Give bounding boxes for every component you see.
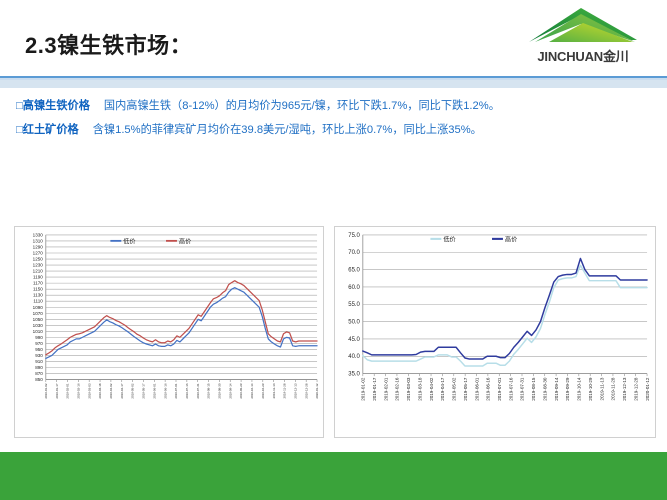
svg-text:35.0: 35.0 (348, 372, 360, 378)
svg-text:2019-03-18: 2019-03-18 (417, 377, 422, 401)
svg-text:1250: 1250 (33, 257, 44, 262)
company-logo: JINCHUAN金川 (517, 6, 649, 68)
svg-text:1130: 1130 (33, 293, 43, 298)
svg-text:2020-01-12: 2020-01-12 (315, 383, 319, 399)
svg-text:75.0: 75.0 (348, 233, 360, 239)
svg-text:2019-10-29: 2019-10-29 (588, 377, 593, 401)
svg-text:低价: 低价 (123, 237, 135, 245)
svg-text:高价: 高价 (179, 237, 191, 245)
svg-text:2019-04-02: 2019-04-02 (429, 377, 434, 401)
slide-root: 2.3镍生铁市场： JINCHUAN金川 (0, 0, 667, 500)
svg-text:65.0: 65.0 (348, 268, 360, 274)
svg-text:2019-02-01: 2019-02-01 (66, 383, 70, 399)
svg-text:2019-11-28: 2019-11-28 (283, 383, 287, 398)
svg-text:1290: 1290 (33, 245, 44, 250)
svg-text:2019-07-16: 2019-07-16 (508, 377, 513, 401)
svg-text:2019-05-17: 2019-05-17 (142, 383, 146, 399)
svg-text:1010: 1010 (33, 329, 44, 334)
paragraph-laterite-ore: □红土矿价格含镍1.5%的菲律宾矿月均价在39.8美元/湿吨，环比上涨0.7%，… (16, 120, 656, 142)
svg-text:2019-06-16: 2019-06-16 (163, 383, 167, 399)
svg-text:低价: 低价 (443, 235, 455, 243)
svg-text:2019-07-31: 2019-07-31 (196, 383, 200, 399)
chart-nickel-pig-iron-svg: 1330131012901270125012301210119011701150… (15, 227, 323, 437)
svg-text:1150: 1150 (33, 287, 43, 292)
svg-text:2019-01-02: 2019-01-02 (361, 377, 366, 401)
page-title: 2.3镍生铁市场： (25, 28, 192, 60)
svg-text:2019-02-16: 2019-02-16 (76, 383, 80, 399)
header-divider-secondary (0, 80, 667, 88)
svg-text:2019-08-15: 2019-08-15 (207, 383, 211, 399)
svg-text:70.0: 70.0 (348, 250, 360, 256)
svg-text:850: 850 (35, 377, 43, 382)
svg-text:2019-12-13: 2019-12-13 (293, 383, 297, 399)
svg-text:2019-09-29: 2019-09-29 (239, 383, 243, 399)
svg-text:2019-10-29: 2019-10-29 (261, 383, 265, 399)
svg-text:1270: 1270 (33, 251, 44, 256)
svg-text:高价: 高价 (505, 235, 517, 243)
svg-text:2019-12-28: 2019-12-28 (633, 377, 638, 401)
svg-text:2019-07-01: 2019-07-01 (174, 383, 178, 399)
svg-text:1330: 1330 (33, 232, 44, 237)
svg-text:2019-11-28: 2019-11-28 (611, 377, 616, 400)
svg-text:2019-05-17: 2019-05-17 (463, 377, 468, 401)
body-text-block: □高镍生铁价格国内高镍生铁（8-12%）的月均价为965元/镍，环比下跌1.7%… (16, 96, 656, 144)
svg-text:930: 930 (35, 353, 43, 358)
chart-philippine-nickel-ore-svg: 75.070.065.060.055.050.045.040.035.02019… (335, 227, 655, 437)
svg-text:990: 990 (35, 335, 43, 340)
logo-wordmark: JINCHUAN金川 (517, 46, 649, 65)
svg-text:2019-03-03: 2019-03-03 (87, 383, 91, 399)
svg-text:950: 950 (35, 347, 43, 352)
svg-text:2019-10-14: 2019-10-14 (577, 377, 582, 401)
svg-text:2019-08-30: 2019-08-30 (218, 383, 222, 399)
svg-text:2019-04-17: 2019-04-17 (440, 377, 445, 401)
svg-text:2019-04-17: 2019-04-17 (120, 383, 124, 399)
svg-text:2019-07-31: 2019-07-31 (520, 377, 525, 401)
svg-text:2019-09-14: 2019-09-14 (554, 377, 559, 401)
svg-text:2019-06-01: 2019-06-01 (152, 383, 156, 399)
svg-text:2019-02-16: 2019-02-16 (395, 377, 400, 401)
svg-text:2019-11-13: 2019-11-13 (272, 383, 276, 398)
svg-text:1050: 1050 (33, 317, 44, 322)
bullet-square-1: □ (16, 100, 23, 112)
svg-text:870: 870 (35, 371, 43, 376)
svg-text:60.0: 60.0 (348, 285, 360, 291)
svg-text:1110: 1110 (33, 299, 43, 304)
svg-text:2019-05-02: 2019-05-02 (452, 377, 457, 401)
svg-text:970: 970 (35, 341, 43, 346)
svg-text:2019-01-17: 2019-01-17 (55, 383, 59, 399)
svg-text:2019-01-17: 2019-01-17 (372, 377, 377, 401)
svg-text:50.0: 50.0 (348, 320, 360, 326)
svg-text:2019-09-14: 2019-09-14 (228, 383, 232, 399)
svg-text:2019-12-28: 2019-12-28 (304, 383, 308, 399)
svg-text:2019-06-16: 2019-06-16 (486, 377, 491, 401)
svg-text:1310: 1310 (33, 238, 44, 243)
svg-text:2019-05-02: 2019-05-02 (131, 383, 135, 399)
svg-text:1230: 1230 (33, 263, 44, 268)
svg-text:55.0: 55.0 (348, 302, 360, 308)
svg-text:2019-01-02: 2019-01-02 (44, 383, 48, 399)
svg-text:910: 910 (35, 359, 43, 364)
svg-text:2019-12-13: 2019-12-13 (622, 377, 627, 401)
svg-text:45.0: 45.0 (348, 337, 360, 343)
footer-band: 图：高镍生（8-12%）铁价格行情（元/镍） 图：菲律宾镍矿1.5%CIF价格（… (0, 452, 667, 500)
svg-text:2019-11-13: 2019-11-13 (599, 377, 604, 400)
svg-text:2019-04-02: 2019-04-02 (109, 383, 113, 399)
svg-text:2019-02-01: 2019-02-01 (383, 377, 388, 401)
chart-nickel-pig-iron-price: 1330131012901270125012301210119011701150… (14, 226, 324, 438)
svg-text:1210: 1210 (33, 269, 44, 274)
svg-text:2019-08-30: 2019-08-30 (542, 377, 547, 401)
svg-text:2020-01-12: 2020-01-12 (645, 377, 650, 401)
svg-text:1070: 1070 (33, 311, 44, 316)
svg-text:40.0: 40.0 (348, 354, 360, 360)
svg-text:2019-07-01: 2019-07-01 (497, 377, 502, 401)
paragraph-text-2: 含镍1.5%的菲律宾矿月均价在39.8美元/湿吨，环比上涨0.7%，同比上涨35… (93, 124, 482, 136)
chart-philippine-nickel-ore-cif: 75.070.065.060.055.050.045.040.035.02019… (334, 226, 656, 438)
svg-text:2019-06-01: 2019-06-01 (474, 377, 479, 401)
svg-text:2019-03-18: 2019-03-18 (98, 383, 102, 399)
svg-text:1190: 1190 (33, 275, 43, 280)
svg-text:890: 890 (35, 365, 43, 370)
svg-text:2019-09-29: 2019-09-29 (565, 377, 570, 401)
slide-header: 2.3镍生铁市场： JINCHUAN金川 (0, 0, 667, 78)
jinchuan-mountain-logo-icon (525, 6, 641, 46)
svg-text:2019-03-03: 2019-03-03 (406, 377, 411, 401)
svg-text:1030: 1030 (33, 323, 44, 328)
paragraph-lead-1: 高镍生铁价格 (23, 100, 90, 112)
svg-text:1090: 1090 (33, 305, 44, 310)
svg-text:2019-08-15: 2019-08-15 (531, 377, 536, 401)
svg-text:2019-07-16: 2019-07-16 (185, 383, 189, 399)
svg-text:2019-10-14: 2019-10-14 (250, 383, 254, 399)
paragraph-lead-2: 红土矿价格 (23, 124, 79, 136)
bullet-square-2: □ (16, 124, 23, 136)
paragraph-text-1: 国内高镍生铁（8-12%）的月均价为965元/镍，环比下跌1.7%，同比下跌1.… (104, 100, 500, 112)
paragraph-high-nickel-pig-iron: □高镍生铁价格国内高镍生铁（8-12%）的月均价为965元/镍，环比下跌1.7%… (16, 96, 656, 118)
svg-text:1170: 1170 (33, 281, 43, 286)
